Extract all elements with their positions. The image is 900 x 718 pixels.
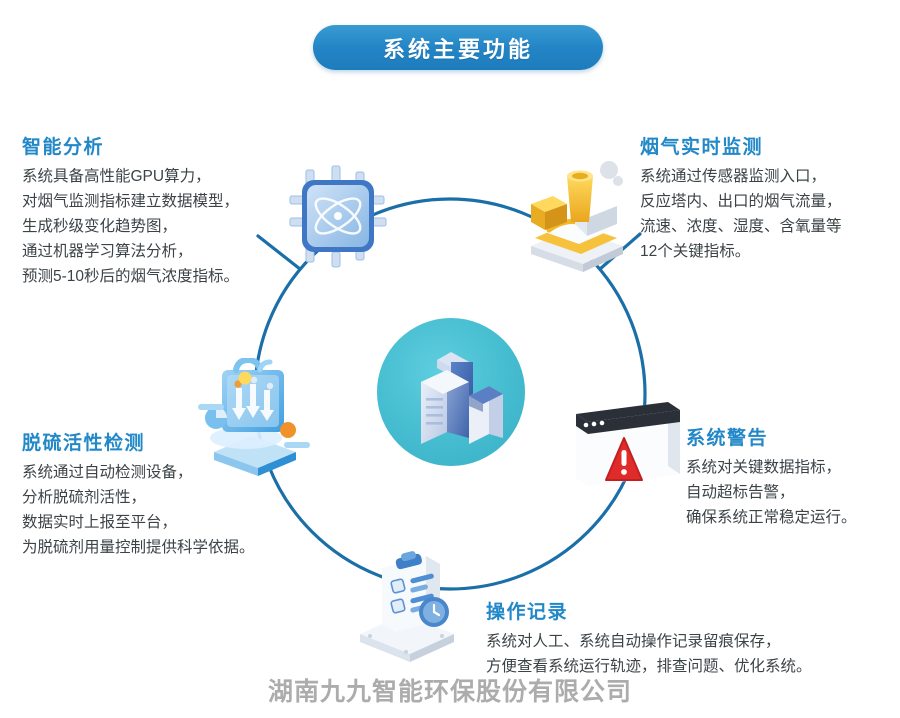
feature-line: 流速、浓度、湿度、含氧量等 <box>640 214 842 239</box>
feature-line: 生成秒级变化趋势图， <box>22 214 239 239</box>
gas-sensor-icon <box>505 150 637 272</box>
page-title: 系统主要功能 <box>383 32 533 64</box>
feature-heading-lab: 脱硫活性检测 <box>22 428 255 455</box>
clipboard-clock-icon <box>342 546 470 662</box>
feature-block-record: 操作记录 系统对人工、系统自动操作记录留痕保存， 方便查看系统运行轨迹，排查问题… <box>486 597 812 679</box>
feature-block-analysis: 智能分析 系统具备高性能GPU算力， 对烟气监测指标建立数据模型， 生成秒级变化… <box>22 132 239 289</box>
feature-line: 预测5-10秒后的烟气浓度指标。 <box>22 264 239 289</box>
node-monitor <box>505 150 637 272</box>
feature-line: 系统具备高性能GPU算力， <box>22 164 239 189</box>
feature-block-monitor: 烟气实时监测 系统通过传感器监测入口， 反应塔内、出口的烟气流量， 流速、浓度、… <box>640 132 842 264</box>
feature-heading-record: 操作记录 <box>486 597 812 624</box>
feature-line: 数据实时上报至平台， <box>22 510 255 535</box>
node-alert <box>562 392 686 502</box>
feature-line: 12个关键指标。 <box>640 239 842 264</box>
node-analysis <box>282 160 394 272</box>
feature-block-alert: 系统警告 系统对关键数据指标， 自动超标告警， 确保系统正常稳定运行。 <box>686 423 857 530</box>
company-watermark: 湖南九九智能环保股份有限公司 <box>0 672 900 708</box>
feature-line: 系统对关键数据指标， <box>686 455 857 480</box>
feature-line: 为脱硫剂用量控制提供科学依据。 <box>22 535 255 560</box>
feature-line: 确保系统正常稳定运行。 <box>686 505 857 530</box>
feature-line: 分析脱硫剂活性， <box>22 485 255 510</box>
feature-line: 系统对人工、系统自动操作记录留痕保存， <box>486 629 812 654</box>
feature-heading-monitor: 烟气实时监测 <box>640 132 842 159</box>
feature-line: 对烟气监测指标建立数据模型， <box>22 189 239 214</box>
feature-line: 通过机器学习算法分析， <box>22 239 239 264</box>
feature-heading-alert: 系统警告 <box>686 423 857 450</box>
hub-circle <box>377 318 525 466</box>
node-record <box>342 546 470 662</box>
feature-line: 自动超标告警， <box>686 480 857 505</box>
warning-window-icon <box>562 392 686 502</box>
infographic-page: 系统主要功能 <box>0 0 900 718</box>
city-buildings-icon <box>377 318 525 466</box>
feature-line: 系统通过自动检测设备， <box>22 460 255 485</box>
page-title-banner: 系统主要功能 <box>313 25 603 70</box>
cpu-chip-icon <box>282 160 394 272</box>
feature-heading-analysis: 智能分析 <box>22 132 239 159</box>
feature-block-lab: 脱硫活性检测 系统通过自动检测设备， 分析脱硫剂活性， 数据实时上报至平台， 为… <box>22 428 255 560</box>
feature-line: 系统通过传感器监测入口， <box>640 164 842 189</box>
feature-line: 反应塔内、出口的烟气流量， <box>640 189 842 214</box>
